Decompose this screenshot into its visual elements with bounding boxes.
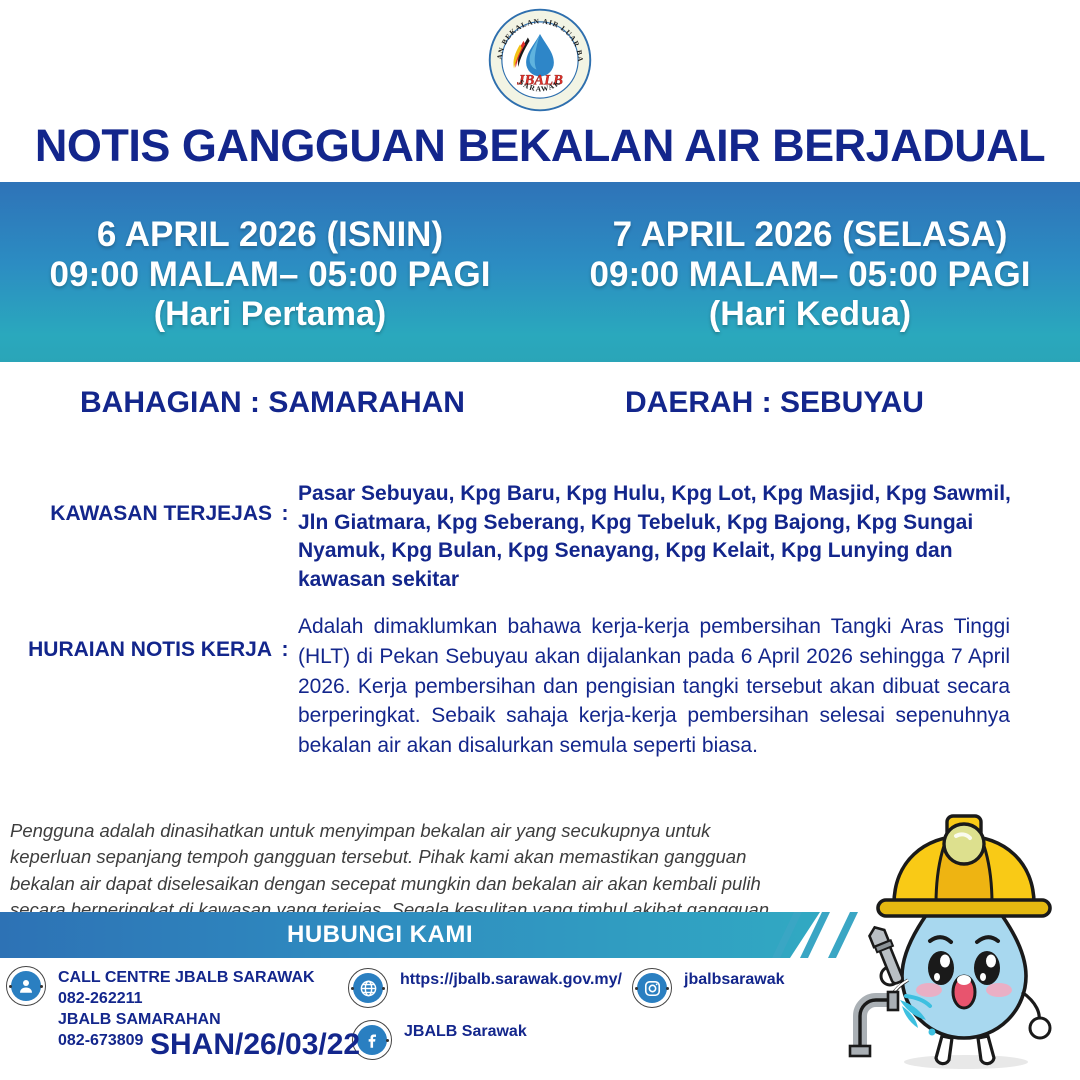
schedule-banner: 6 APRIL 2026 (ISNIN) 09:00 MALAM– 05:00 … [0,182,1080,362]
schedule-day-2: 7 APRIL 2026 (SELASA) 09:00 MALAM– 05:00… [540,182,1080,362]
field-colon: : [272,612,298,761]
field-value: Adalah dimaklumkan bahawa kerja-kerja pe… [298,612,1080,761]
contact-banner: HUBUNGI KAMI [0,912,820,958]
reference-number: SHAN/26/03/22 [150,1028,360,1062]
field-colon: : [272,480,298,594]
person-icon [6,966,46,1006]
field-label: KAWASAN TERJEJAS [0,480,272,594]
facebook-text: JBALB Sarawak [404,1020,527,1042]
instagram-icon [632,968,672,1008]
logo-container: JBALB JABATAN BEKALAN AIR LUAR BANDAR SA… [0,8,1080,112]
page-title: NOTIS GANGGUAN BEKALAN AIR BERJADUAL [0,120,1080,172]
globe-icon [348,968,388,1008]
contact-banner-title: HUBUNGI KAMI [287,921,473,949]
schedule-time: 09:00 MALAM– 05:00 PAGI [590,255,1031,295]
schedule-day-label: (Hari Pertama) [154,295,386,334]
jbalb-logo: JBALB JABATAN BEKALAN AIR LUAR BANDAR SA… [488,8,592,112]
schedule-day-label: (Hari Kedua) [709,295,911,334]
field-work-description: HURAIAN NOTIS KERJA : Adalah dimaklumkan… [0,612,1080,761]
field-label: HURAIAN NOTIS KERJA [0,612,272,761]
contact-website[interactable]: https://jbalb.sarawak.gov.my/ [348,968,622,1008]
division-daerah: DAERAH : SEBUYAU [545,386,1080,420]
water-droplet-mascot [836,800,1080,1080]
contact-facebook[interactable]: JBALB Sarawak [352,1020,527,1060]
division-bahagian: BAHAGIAN : SAMARAHAN [0,386,545,420]
field-affected-areas: KAWASAN TERJEJAS : Pasar Sebuyau, Kpg Ba… [0,480,1080,594]
instagram-text: jbalbsarawak [684,968,785,990]
contact-instagram[interactable]: jbalbsarawak [632,968,785,1008]
field-value: Pasar Sebuyau, Kpg Baru, Kpg Hulu, Kpg L… [298,480,1080,594]
notice-poster: JBALB JABATAN BEKALAN AIR LUAR BANDAR SA… [0,0,1080,1080]
schedule-time: 09:00 MALAM– 05:00 PAGI [50,255,491,295]
schedule-day-1: 6 APRIL 2026 (ISNIN) 09:00 MALAM– 05:00 … [0,182,540,362]
division-row: BAHAGIAN : SAMARAHAN DAERAH : SEBUYAU [0,386,1080,420]
schedule-date: 6 APRIL 2026 (ISNIN) [97,215,443,255]
website-text: https://jbalb.sarawak.gov.my/ [400,968,622,990]
schedule-date: 7 APRIL 2026 (SELASA) [613,215,1008,255]
